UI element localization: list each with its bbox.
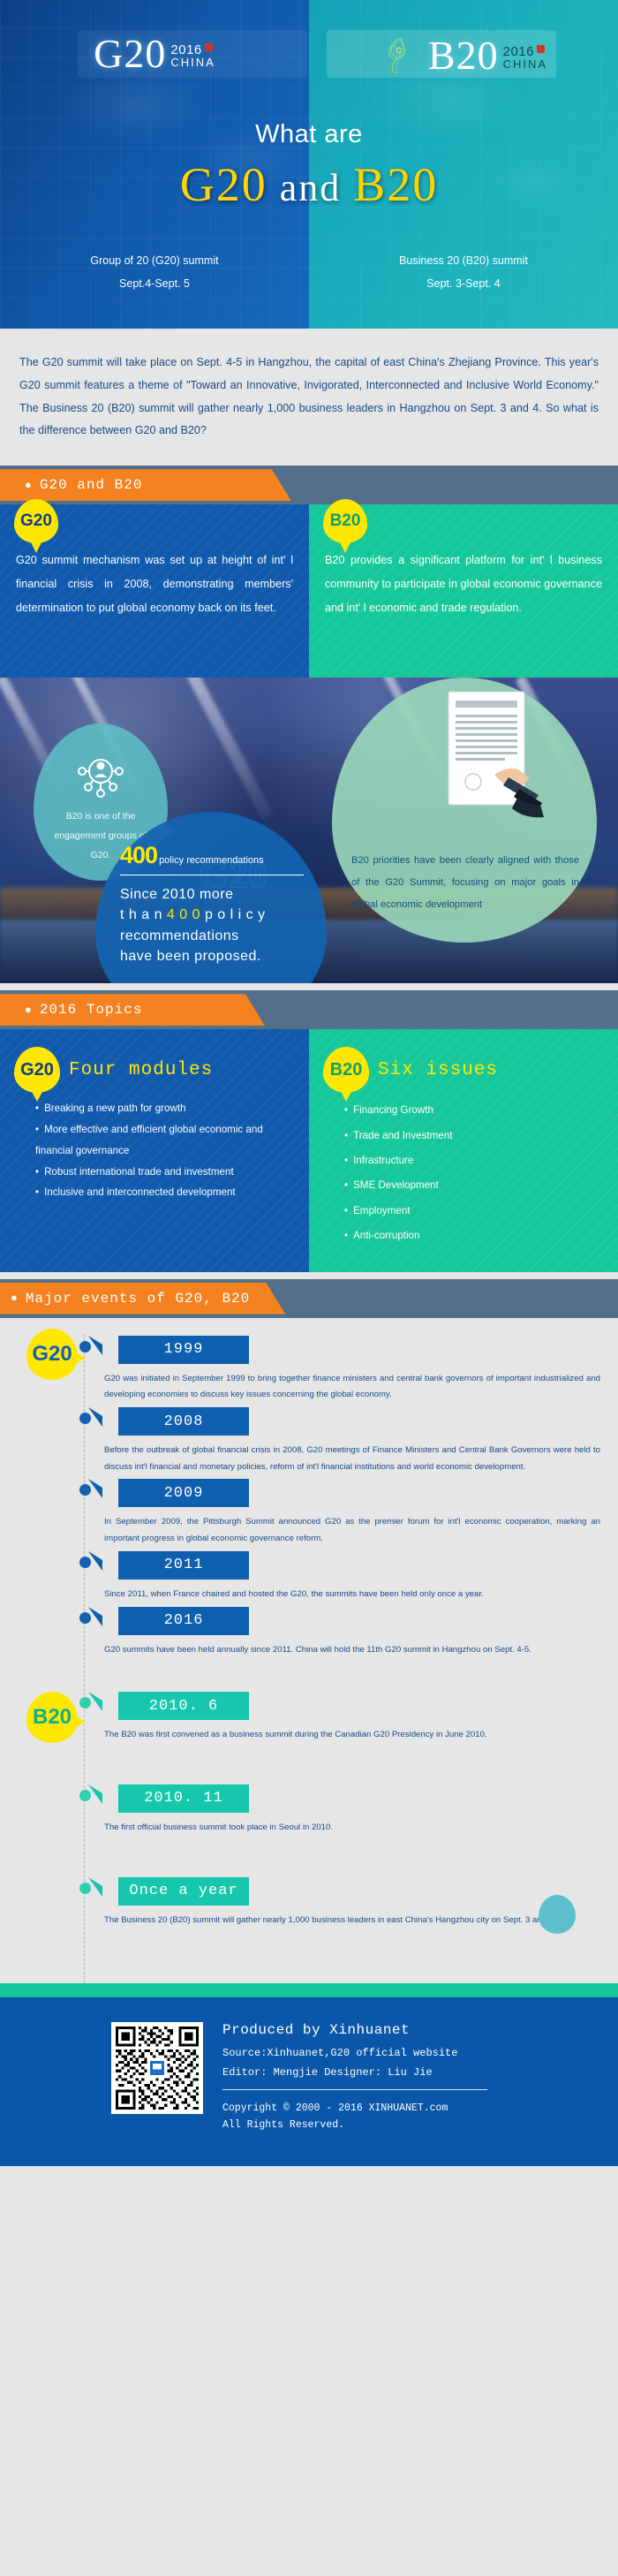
qr-code	[111, 2022, 203, 2114]
b20-pin-badge: B20	[323, 1047, 369, 1093]
list-item: Financing Growth	[344, 1098, 604, 1123]
network-people-icon	[75, 754, 126, 799]
timeline-dot	[79, 1557, 91, 1568]
section-bar-text: 2016 Topics	[40, 1002, 143, 1018]
divider-rule	[120, 875, 304, 875]
topics-section: G20 Four modules Breaking a new path for…	[0, 1029, 618, 1271]
chip-notch	[88, 1336, 102, 1364]
chip-notch	[88, 1479, 102, 1507]
section-bar-label: ● 2016 Topics	[0, 994, 265, 1026]
g20-pin-badge: G20	[14, 499, 58, 543]
section-bar-text: Major events of G20, B20	[26, 1291, 250, 1307]
summit-dates: Sept. 3-Sept. 4	[309, 277, 618, 290]
section-bar-label: ● Major events of G20, B20	[0, 1283, 285, 1315]
list-item: Infrastructure	[344, 1148, 604, 1173]
summit-info-row: Group of 20 (G20) summit Sept.4-Sept. 5 …	[0, 254, 618, 290]
topics-list-g20: Breaking a new path for growth More effe…	[35, 1098, 295, 1203]
bullet-icon: ●	[11, 1292, 19, 1305]
timeline-description: The first official business summit took …	[104, 1820, 600, 1837]
timeline-item: 2009 In September 2009, the Pittsburgh S…	[85, 1479, 600, 1547]
topics-card-g20: G20 Four modules Breaking a new path for…	[0, 1029, 309, 1271]
footer-rights: All Rights Reserved.	[222, 2119, 487, 2131]
timeline-year-chip: 2009	[118, 1479, 249, 1507]
timeline-item: 2011 Since 2011, when France chaired and…	[85, 1551, 600, 1603]
g20-logo-country: CHINA	[170, 57, 215, 68]
section-bar-topics: ● 2016 Topics	[0, 990, 618, 1029]
list-item: Trade and Investment	[344, 1124, 604, 1148]
section-bar-text: G20 and B20	[40, 477, 143, 493]
hero-header: G20 2016 CHINA	[0, 0, 618, 329]
policy-line-2: t h a n 4 0 0 p o l i c y	[120, 905, 304, 925]
footer-text: Produced by Xinhuanet Source:Xinhuanet,G…	[222, 2022, 487, 2131]
hero-title: G20andB20	[0, 157, 618, 212]
timeline-year-chip: 2016	[118, 1607, 249, 1635]
bullet-icon: ●	[25, 479, 33, 492]
hero-title-g20: G20	[180, 158, 268, 211]
timeline-description: Since 2011, when France chaired and host…	[104, 1587, 600, 1603]
list-item: Anti-corruption	[344, 1224, 604, 1248]
chip-notch	[88, 1877, 102, 1905]
list-item: SME Development	[344, 1173, 604, 1198]
b20-logo: B20 2016 CHINA	[309, 19, 618, 88]
section-bar-events: ● Major events of G20, B20	[0, 1279, 618, 1318]
timeline-year-chip: 2010. 6	[118, 1692, 249, 1720]
topics-title-g20: Four modules	[69, 1060, 213, 1080]
timeline-dot	[79, 1883, 91, 1894]
intro-paragraph: The G20 summit will take place on Sept. …	[19, 352, 599, 443]
b20-priorities-text: B20 priorities have been clearly aligned…	[351, 850, 579, 917]
timeline-g20-group: 1999 G20 was initiated in September 1999…	[0, 1336, 618, 1659]
g20-logo: G20 2016 CHINA	[0, 19, 309, 88]
timeline-item: Once a year The Business 20 (B20) summit…	[85, 1877, 600, 1929]
timeline-dot	[79, 1341, 91, 1352]
chip-notch	[88, 1551, 102, 1580]
timeline-year-chip: 1999	[118, 1336, 249, 1364]
timeline-description: G20 summits have been held annually sinc…	[104, 1642, 600, 1659]
timeline-item: 2016 G20 summits have been held annually…	[85, 1607, 600, 1659]
infographic-page: G20 2016 CHINA	[0, 0, 618, 2576]
hero-title-b20: B20	[353, 158, 438, 211]
light-streak	[180, 678, 274, 821]
policy-number-row: 400 policy recommendations	[120, 842, 304, 869]
timeline-item: 1999 G20 was initiated in September 1999…	[85, 1336, 600, 1404]
compare-text-b20: B20 provides a significant platform for …	[325, 549, 602, 620]
timeline-item: 2010. 11 The first official business sum…	[85, 1784, 600, 1837]
chip-notch	[88, 1407, 102, 1436]
decorative-circle	[539, 1895, 576, 1934]
b20-logo-mark: B20	[428, 36, 499, 75]
policy-line-3: recommendations	[120, 926, 304, 946]
compare-text-g20: G20 summit mechanism was set up at heigh…	[16, 549, 293, 620]
policy-line-1: Since 2010 more	[120, 884, 304, 905]
timeline-description: The B20 was first convened as a business…	[104, 1727, 600, 1744]
bullet-icon: ●	[25, 1004, 33, 1017]
policy-count: 400	[120, 842, 157, 869]
summit-name: Group of 20 (G20) summit	[0, 254, 309, 267]
timeline-bottom-spacer	[0, 1932, 618, 1983]
hero-title-and: and	[268, 166, 354, 209]
b20-logo-year: 2016	[503, 45, 547, 58]
g20-logo-mark: G20	[94, 34, 166, 73]
list-item: Employment	[344, 1199, 604, 1224]
policy-count-label: policy recommendations	[159, 855, 264, 866]
chip-notch	[88, 1692, 102, 1720]
topics-header-g20: G20 Four modules	[14, 1047, 295, 1093]
g20-logo-year: 2016	[170, 43, 215, 57]
timeline-dot	[79, 1612, 91, 1624]
compare-section: G20 G20 summit mechanism was set up at h…	[0, 504, 618, 678]
logo-row: G20 2016 CHINA	[0, 19, 618, 88]
list-item: Robust international trade and investmen…	[35, 1162, 295, 1183]
footer-source: Source:Xinhuanet,G20 official website	[222, 2047, 487, 2059]
policy-statement: Since 2010 more t h a n 4 0 0 p o l i c …	[120, 884, 304, 966]
b20-pin-badge: B20	[323, 499, 367, 543]
timeline-year-chip: 2008	[118, 1407, 249, 1436]
section-bar-compare: ● G20 and B20	[0, 466, 618, 504]
intro-block: The G20 summit will take place on Sept. …	[0, 329, 618, 458]
timeline-item: 2010. 6 The B20 was first convened as a …	[85, 1692, 600, 1744]
b20-flower-icon	[380, 33, 422, 75]
timeline-spacer	[0, 1662, 618, 1692]
events-timeline: G20 1999 G20 was initiated in September …	[0, 1318, 618, 1984]
document-signing-icon	[443, 690, 549, 822]
topics-title-b20: Six issues	[378, 1060, 498, 1080]
timeline-item: 2008 Before the outbreak of global finan…	[85, 1407, 600, 1475]
topics-list-b20: Financing Growth Trade and Investment In…	[344, 1098, 604, 1248]
timeline-dot	[79, 1413, 91, 1424]
summit-info-b20: Business 20 (B20) summit Sept. 3-Sept. 4	[309, 254, 618, 290]
timeline-description: In September 2009, the Pittsburgh Summit…	[104, 1514, 600, 1547]
summit-name: Business 20 (B20) summit	[309, 254, 618, 267]
red-seal-icon	[537, 45, 545, 53]
summit-dates: Sept.4-Sept. 5	[0, 277, 309, 290]
footer-accent-strip	[0, 1983, 618, 1997]
policy-line-2-number: 4 0 0	[167, 907, 200, 922]
timeline-description: G20 was initiated in September 1999 to b…	[104, 1371, 600, 1404]
timeline-description: The Business 20 (B20) summit will gather…	[104, 1913, 600, 1929]
b20-logo-country: CHINA	[503, 58, 547, 70]
timeline-dot	[79, 1790, 91, 1801]
summit-info-g20: Group of 20 (G20) summit Sept.4-Sept. 5	[0, 254, 309, 290]
policy-line-4: have been proposed.	[120, 946, 304, 966]
footer-divider	[222, 2089, 487, 2090]
footer-produced-by: Produced by Xinhuanet	[222, 2022, 487, 2038]
list-item: More effective and efficient global econ…	[35, 1119, 295, 1162]
b20-priorities-bubble: B20 priorities have been clearly aligned…	[332, 678, 597, 943]
footer-credits: Editor: Mengjie Designer: Liu Jie	[222, 2066, 487, 2079]
timeline-year-chip: 2010. 11	[118, 1784, 249, 1813]
section-bar-label: ● G20 and B20	[0, 469, 291, 501]
topics-card-b20: B20 Six issues Financing Growth Trade an…	[309, 1029, 618, 1271]
hero-kicker: What are	[0, 120, 618, 149]
timeline-b20-group: B20 2010. 6 The B20 was first convened a…	[0, 1692, 618, 1928]
list-item: Breaking a new path for growth	[35, 1098, 295, 1119]
chip-notch	[88, 1784, 102, 1813]
topics-header-b20: B20 Six issues	[323, 1047, 604, 1093]
chip-notch	[88, 1607, 102, 1635]
footer: Produced by Xinhuanet Source:Xinhuanet,G…	[0, 1997, 618, 2166]
timeline-year-chip: Once a year	[118, 1877, 249, 1905]
red-seal-icon	[205, 43, 213, 51]
list-item: Inclusive and interconnected development	[35, 1182, 295, 1203]
conference-photo-band: B20 priorities have been clearly aligned…	[0, 678, 618, 983]
timeline-description: Before the outbreak of global financial …	[104, 1443, 600, 1475]
g20-pin-badge: G20	[14, 1047, 60, 1093]
compare-card-g20: G20 G20 summit mechanism was set up at h…	[0, 504, 309, 678]
timeline-year-chip: 2011	[118, 1551, 249, 1580]
compare-card-b20: B20 B20 provides a significant platform …	[309, 504, 618, 678]
footer-copyright: Copyright © 2000 - 2016 XINHUANET.com	[222, 2102, 487, 2114]
